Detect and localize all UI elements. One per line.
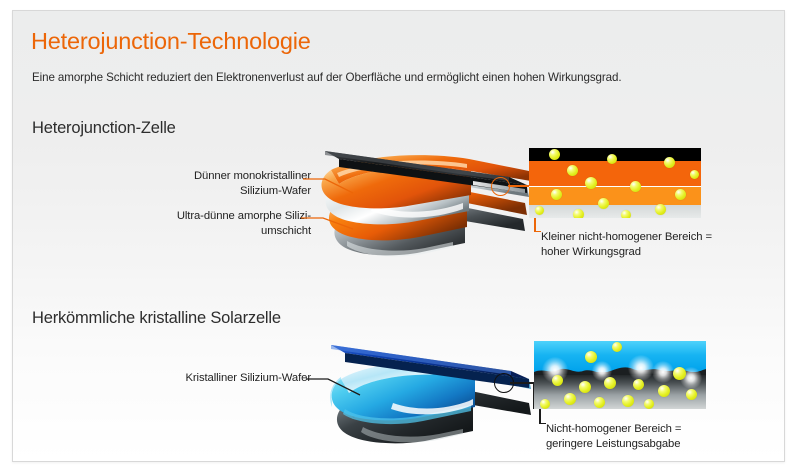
particle — [598, 198, 609, 209]
label-mono-wafer-line1: Dünner monokristalliner — [101, 169, 311, 184]
sparkle — [652, 361, 674, 383]
particle — [585, 351, 597, 363]
particle — [658, 385, 670, 397]
particle — [664, 157, 675, 168]
particle — [594, 397, 605, 408]
section-heading-conventional: Herkömmliche kristalline Solarzelle — [32, 309, 281, 328]
callout-heterojunction-line2: hoher Wirkungsgrad — [541, 245, 712, 260]
particle — [552, 375, 563, 386]
particle — [675, 189, 686, 200]
sparkle — [628, 355, 654, 381]
particle — [690, 170, 699, 179]
conventional-magnified-layers — [534, 341, 706, 409]
particle — [607, 154, 617, 164]
callout-conventional: Nicht-homogener Bereich = geringere Leis… — [546, 422, 681, 452]
callout-heterojunction: Kleiner nicht-homogener Bereich = hoher … — [541, 230, 712, 260]
callout-heterojunction-line1: Kleiner nicht-homogener Bereich = — [541, 230, 712, 245]
label-mono-wafer-line2: Silizium-Wafer — [101, 184, 311, 199]
callout-bracket-horizontal-heterojunction — [534, 231, 541, 233]
particle — [540, 399, 550, 409]
page-subtitle: Eine amorphe Schicht reduziert den Elekt… — [32, 71, 621, 84]
info-card: Heterojunction-Technologie Eine amorphe … — [12, 10, 785, 462]
connector-line-heterojunction — [508, 185, 530, 187]
heterojunction-cell-3d — [313, 137, 533, 262]
label-crystalline-wafer: Kristalliner Silizium-Wafer — [101, 371, 311, 386]
particle — [604, 377, 616, 389]
particle — [622, 395, 634, 407]
label-amorphous-layer: Ultra-dünne amorphe Silizi- umschicht — [81, 209, 311, 238]
page-root: Heterojunction-Technologie Eine amorphe … — [0, 0, 800, 469]
particle — [579, 381, 591, 393]
callout-bracket-horizontal-conventional — [539, 423, 546, 425]
particle — [686, 389, 697, 400]
particle — [551, 189, 562, 200]
particle — [564, 393, 576, 405]
heterojunction-magnified-layers — [529, 148, 701, 218]
callout-conventional-line2: geringere Leistungsabgabe — [546, 437, 681, 452]
particle — [573, 209, 584, 218]
particle — [655, 204, 666, 215]
inset-band-amorphous-silicon-layer — [529, 161, 701, 186]
particle — [549, 149, 560, 160]
particle — [612, 342, 622, 352]
section-heading-heterojunction: Heterojunction-Zelle — [32, 119, 176, 138]
label-amorphous-layer-line1: Ultra-dünne amorphe Silizi- — [81, 209, 311, 224]
particle — [644, 399, 654, 409]
particle — [673, 367, 686, 380]
label-crystalline-wafer-line1: Kristalliner Silizium-Wafer — [101, 371, 311, 386]
particle — [633, 379, 644, 390]
particle — [630, 181, 641, 192]
connector-line-conventional — [510, 382, 534, 384]
particle — [585, 177, 597, 189]
label-amorphous-layer-line2: umschicht — [81, 224, 311, 239]
particle — [567, 165, 578, 176]
particle — [621, 210, 631, 218]
page-title: Heterojunction-Technologie — [31, 28, 311, 55]
callout-conventional-line1: Nicht-homogener Bereich = — [546, 422, 681, 437]
label-mono-wafer: Dünner monokristalliner Silizium-Wafer — [101, 169, 311, 198]
particle — [535, 206, 544, 215]
inset-band-rear-layer — [529, 205, 701, 218]
